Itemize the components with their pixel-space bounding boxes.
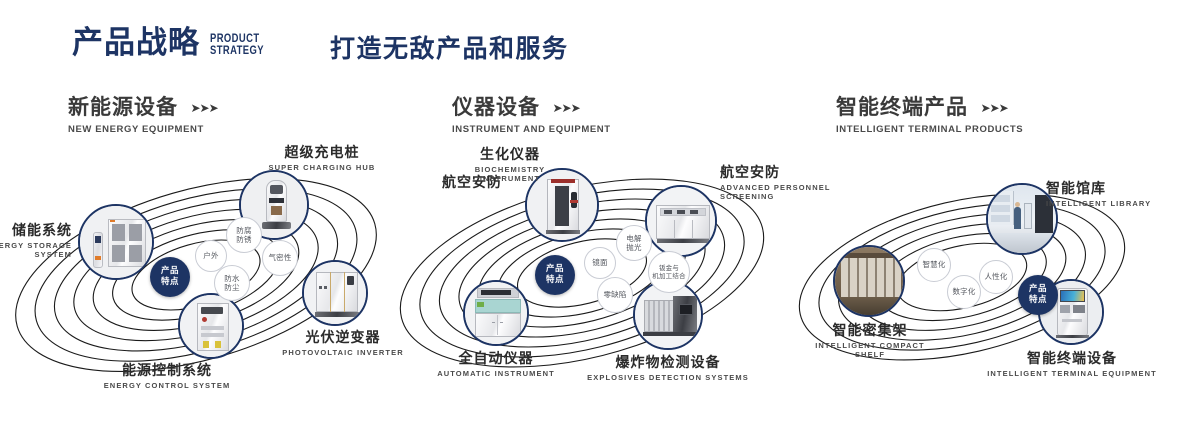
section-title-en: INSTRUMENT AND EQUIPMENT <box>452 124 611 135</box>
chevrons-right-icon: ➤➤➤ <box>552 101 579 115</box>
poster-title-en: PRODUCT STRATEGY <box>210 34 264 57</box>
auto-analyzer-photo <box>465 282 527 344</box>
caption-cn: 能源控制系统 <box>22 363 312 379</box>
caption-en-line2: SYSTEM <box>0 251 72 260</box>
poster-canvas: 产品战略 PRODUCT STRATEGY 打造无敌产品和服务 新能源设备 ➤➤… <box>0 0 1200 422</box>
section-title-en: NEW ENERGY EQUIPMENT <box>68 124 218 135</box>
caption-cn: 超级充电桩 <box>232 145 412 161</box>
feature-core-product-highlights: 产品 特点 <box>1018 275 1058 315</box>
caption-compact-shelf: 智能密集架 INTELLIGENT COMPACT SHELF <box>770 323 970 359</box>
section-title-new-energy: 新能源设备 ➤➤➤ NEW ENERGY EQUIPMENT <box>68 96 218 135</box>
core-label-line1: 产品 <box>1029 284 1047 295</box>
caption-cn: 智能终端设备 <box>968 351 1176 367</box>
compact-shelving-photo <box>835 247 903 315</box>
caption-charging-pile: 超级充电桩 SUPER CHARGING HUB <box>232 145 412 173</box>
feature-label: 零缺陷 <box>603 290 626 299</box>
section-title-cn: 新能源设备 <box>68 96 178 119</box>
product-node-compact-shelf[interactable] <box>833 245 905 317</box>
core-label-line2: 特点 <box>1029 295 1047 306</box>
caption-biochemistry-instrument: 生化仪器 BIOCHEMISTRY INSTRUMENT <box>420 147 600 183</box>
feature-core-product-highlights: 产品 特点 <box>150 257 190 297</box>
caption-explosives-detection: 爆炸物检测设备 EXPLOSIVES DETECTION SYSTEMS <box>578 355 758 383</box>
caption-automatic-instrument: 全自动仪器 AUTOMATIC INSTRUMENT <box>406 351 586 379</box>
feature-label: 人性化 <box>984 272 1007 281</box>
section-title-cn: 仪器设备 <box>452 96 540 119</box>
feature-bubble-digital: 数字化 <box>947 275 981 309</box>
feature-label: 镜面 <box>592 258 607 267</box>
product-node-energy-control[interactable] <box>178 293 244 359</box>
feature-bubble-airtightness: 气密性 <box>262 240 298 276</box>
core-label-line2: 特点 <box>161 277 179 288</box>
orbit-group-new-energy: 储能系统 ENERGY STORAGE SYSTEM 超级充电桩 SUPER C… <box>0 155 400 405</box>
core-label-line2: 特点 <box>546 275 564 286</box>
caption-en-line2: INSTRUMENT <box>420 175 600 184</box>
poster-header: 产品战略 PRODUCT STRATEGY <box>72 28 276 59</box>
energy-storage-cabinet-photo <box>80 206 152 278</box>
pv-inverter-cabinet-photo <box>304 262 366 324</box>
orbit-group-instrument: 航空安防 生化仪器 BIOCHEMISTRY INSTRUMENT <box>390 155 790 405</box>
caption-intelligent-library: 智能馆库 INTELLIGENT LIBRARY <box>1046 181 1200 209</box>
feature-label: 数字化 <box>952 287 975 296</box>
core-label-line1: 产品 <box>546 264 564 275</box>
feature-label-line2: 机加工结合 <box>652 272 686 280</box>
caption-en: ENERGY CONTROL SYSTEM <box>22 382 312 391</box>
caption-en-line2: SHELF <box>770 351 970 360</box>
feature-bubble-mirror-finish: 镜面 <box>584 247 616 279</box>
section-title-en: INTELLIGENT TERMINAL PRODUCTS <box>836 124 1023 135</box>
feature-label-line2: 防锈 <box>236 235 251 244</box>
orbit-group-intelligent-terminal: 智能馆库 INTELLIGENT LIBRARY 智能密集架 INTELLIGE… <box>790 155 1190 405</box>
product-node-personnel-screening[interactable] <box>645 185 717 257</box>
caption-energy-storage: 储能系统 ENERGY STORAGE SYSTEM <box>0 223 72 259</box>
poster-title-en-line2: STRATEGY <box>210 46 264 58</box>
caption-en: INTELLIGENT LIBRARY <box>1046 200 1200 209</box>
feature-label: 户外 <box>203 251 218 260</box>
feature-label-line1: 防水 <box>224 274 239 283</box>
feature-bubble-humanized: 人性化 <box>979 260 1013 294</box>
feature-label: 气密性 <box>268 253 291 262</box>
product-node-pv-inverter[interactable] <box>302 260 368 326</box>
caption-cn: 全自动仪器 <box>406 351 586 367</box>
poster-subtitle: 打造无敌产品和服务 <box>330 36 569 61</box>
feature-core-product-highlights: 产品 特点 <box>535 255 575 295</box>
feature-label-line2: 抛光 <box>626 243 641 252</box>
product-node-energy-storage[interactable] <box>78 204 154 280</box>
caption-en: SUPER CHARGING HUB <box>232 164 412 173</box>
chevrons-right-icon: ➤➤➤ <box>190 101 217 115</box>
feature-bubble-waterproof-dustproof: 防水 防尘 <box>214 265 250 301</box>
caption-en: EXPLOSIVES DETECTION SYSTEMS <box>578 374 758 383</box>
section-title-cn: 智能终端产品 <box>836 96 968 119</box>
analyzer-machine-photo <box>647 187 715 255</box>
caption-cn: 储能系统 <box>0 223 72 239</box>
feature-label-line1: 电解 <box>626 234 641 243</box>
poster-title-en-line1: PRODUCT <box>210 34 264 46</box>
caption-energy-control: 能源控制系统 ENERGY CONTROL SYSTEM <box>22 363 312 391</box>
core-label-line1: 产品 <box>161 266 179 277</box>
caption-terminal-equipment: 智能终端设备 INTELLIGENT TERMINAL EQUIPMENT <box>968 351 1176 379</box>
feature-label-line1: 防腐 <box>236 226 251 235</box>
feature-bubble-zero-defect: 零缺陷 <box>597 277 633 313</box>
section-title-instrument: 仪器设备 ➤➤➤ INSTRUMENT AND EQUIPMENT <box>452 96 611 135</box>
poster-title-cn: 产品战略 <box>72 28 200 59</box>
feature-bubble-electropolishing: 电解 抛光 <box>616 225 652 261</box>
control-cabinet-photo <box>180 295 242 357</box>
feature-label: 智慧化 <box>922 260 945 269</box>
feature-bubble-smart: 智慧化 <box>917 248 951 282</box>
caption-cn: 爆炸物检测设备 <box>578 355 758 371</box>
feature-label-line2: 防尘 <box>224 283 239 292</box>
caption-en: AUTOMATIC INSTRUMENT <box>406 370 586 379</box>
caption-cn: 生化仪器 <box>420 147 600 163</box>
product-node-automatic-instrument[interactable] <box>463 280 529 346</box>
feature-bubble-sheetmetal-machining: 钣金与 机加工结合 <box>648 251 690 293</box>
chevrons-right-icon: ➤➤➤ <box>980 101 1007 115</box>
caption-en: INTELLIGENT TERMINAL EQUIPMENT <box>968 370 1176 379</box>
feature-label-line1: 钣金与 <box>659 264 679 272</box>
caption-cn: 智能密集架 <box>770 323 970 339</box>
section-title-intelligent-terminal: 智能终端产品 ➤➤➤ INTELLIGENT TERMINAL PRODUCTS <box>836 96 1023 135</box>
caption-cn: 智能馆库 <box>1046 181 1200 197</box>
feature-bubble-anti-corrosion: 防腐 防锈 <box>226 217 262 253</box>
